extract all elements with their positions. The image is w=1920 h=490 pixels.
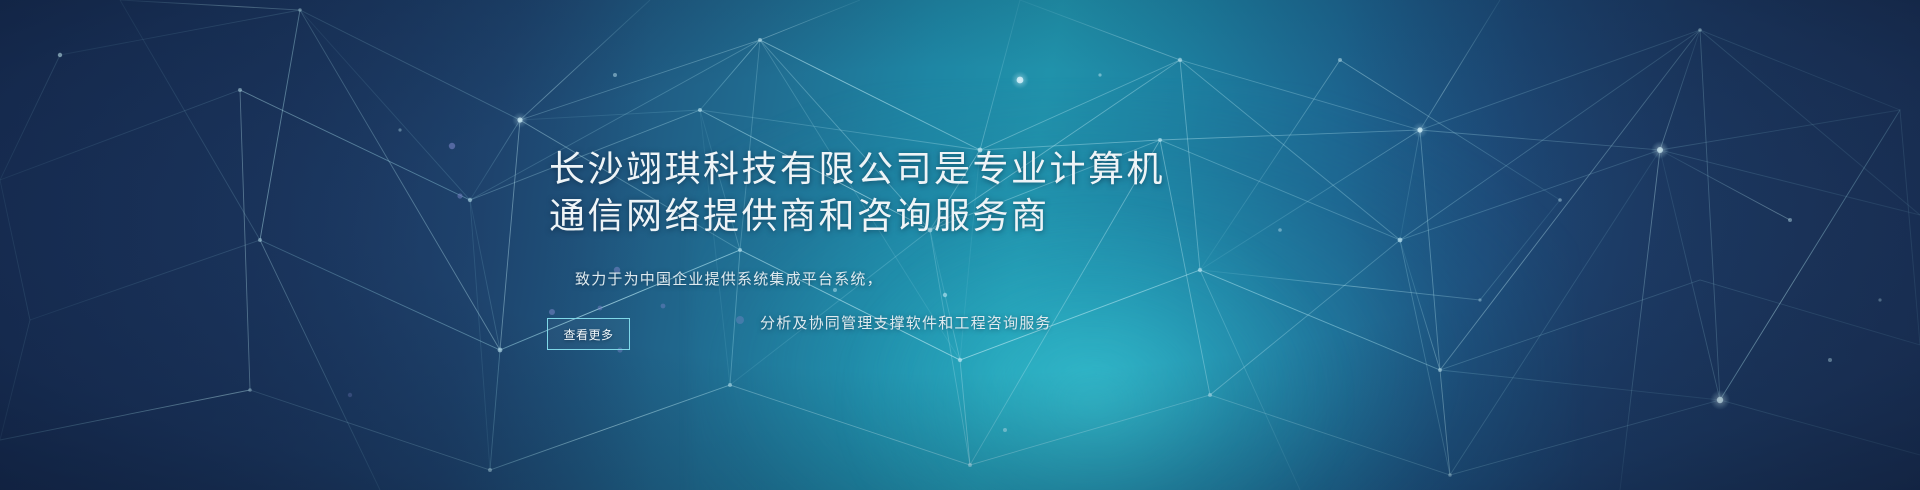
hero-subtitle: 致力于为中国企业提供系统集成平台系统， 分析及协同管理支撑软件和工程咨询服务 bbox=[575, 258, 1052, 346]
hero-headline: 长沙翊琪科技有限公司是专业计算机 通信网络提供商和咨询服务商 bbox=[549, 146, 1165, 240]
hero-banner: 长沙翊琪科技有限公司是专业计算机 通信网络提供商和咨询服务商 致力于为中国企业提… bbox=[0, 0, 1920, 490]
view-more-button[interactable]: 查看更多 bbox=[547, 318, 630, 350]
hero-headline-line-2: 通信网络提供商和咨询服务商 bbox=[549, 193, 1165, 240]
hero-subtitle-line-1: 致力于为中国企业提供系统集成平台系统， bbox=[575, 271, 883, 288]
hero-content: 长沙翊琪科技有限公司是专业计算机 通信网络提供商和咨询服务商 致力于为中国企业提… bbox=[0, 0, 1920, 490]
hero-headline-line-1: 长沙翊琪科技有限公司是专业计算机 bbox=[549, 149, 1165, 190]
hero-subtitle-line-2: 分析及协同管理支撑软件和工程咨询服务 bbox=[575, 302, 1052, 346]
